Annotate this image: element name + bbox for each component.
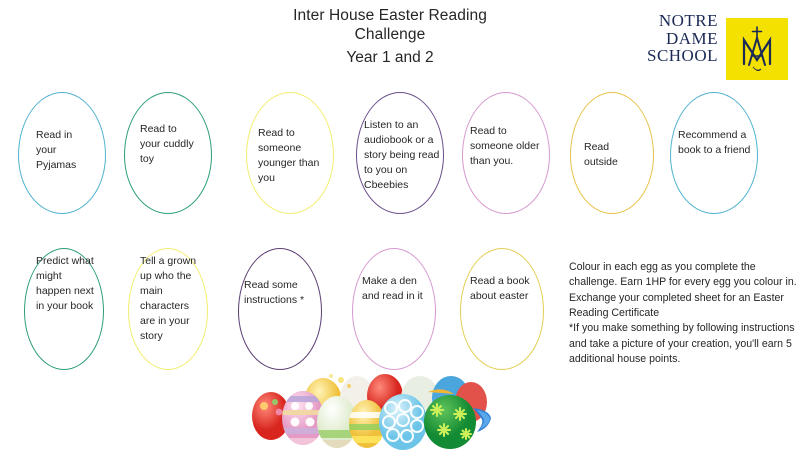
egg-label-predict-what-happens-next: Predict what might happen next in your b… <box>36 254 94 314</box>
egg-make-a-den[interactable] <box>352 248 436 370</box>
egg-label-read-to-cuddly-toy: Read to your cuddly toy <box>140 122 198 167</box>
logo-word-notre: NOTRE <box>608 12 718 30</box>
easter-eggs-photo <box>245 372 493 450</box>
egg-label-read-outside: Read outside <box>584 140 642 170</box>
logo-word-school: SCHOOL <box>608 47 718 65</box>
egg-label-make-a-den: Make a den and read in it <box>362 274 434 304</box>
egg-label-read-to-someone-older: Read to someone older than you. <box>470 124 546 169</box>
title-line-2: Challenge <box>190 25 590 44</box>
egg-label-tell-a-grown-up: Tell a grown up who the main characters … <box>140 254 204 343</box>
school-logo: NOTRE DAME SCHOOL <box>608 12 796 84</box>
egg-label-listen-to-audiobook: Listen to an audiobook or a story being … <box>364 118 442 193</box>
egg-label-read-a-book-about-easter: Read a book about easter <box>470 274 540 304</box>
egg-read-a-book-about-easter[interactable] <box>460 248 544 370</box>
easter-reading-challenge-poster: Inter House Easter Reading Challenge Yea… <box>0 0 800 450</box>
instructions-text: Colour in each egg as you complete the c… <box>569 260 797 368</box>
egg-label-read-some-instructions: Read some instructions * <box>244 278 320 308</box>
page-title: Inter House Easter Reading Challenge Yea… <box>190 6 590 67</box>
title-line-1: Inter House Easter Reading <box>190 6 590 25</box>
egg-label-read-to-someone-younger: Read to someone younger than you <box>258 126 328 186</box>
egg-label-recommend-a-book: Recommend a book to a friend <box>678 128 754 158</box>
page-subtitle: Year 1 and 2 <box>190 48 590 67</box>
egg-read-some-instructions[interactable] <box>238 248 322 370</box>
marian-monogram-icon <box>726 18 788 80</box>
egg-label-read-in-your-pyjamas: Read in your Pyjamas <box>36 128 94 173</box>
logo-word-dame: DAME <box>608 30 718 48</box>
school-logo-wordmark: NOTRE DAME SCHOOL <box>608 12 718 65</box>
